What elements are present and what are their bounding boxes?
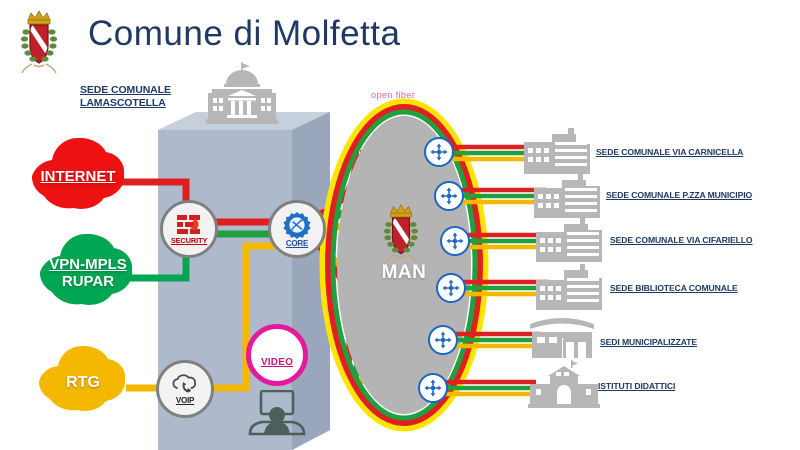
security-node[interactable]: SECURITY — [160, 200, 218, 258]
router-icon-site-3[interactable] — [440, 226, 470, 256]
voip-node-label: VOIP — [176, 397, 194, 405]
cloud-label-internet: INTERNET — [18, 168, 138, 185]
videoconference-icon — [248, 390, 306, 436]
man-coat-of-arms-icon — [370, 200, 432, 266]
site-label-4: SEDE BIBLIOTECA COMUNALE — [610, 283, 738, 293]
page-title: Comune di Molfetta — [88, 14, 400, 54]
site-label-2: SEDE COMUNALE P.ZZA MUNICIPIO — [606, 190, 752, 200]
router-icon-site-4[interactable] — [436, 273, 466, 303]
network-diagram: Comune di Molfetta SEDE COMUNALE LAMASCO… — [0, 0, 800, 450]
cloud-internet-label: INTERNET — [41, 168, 116, 185]
video-node-label: VIDEO — [261, 357, 293, 368]
voip-node[interactable]: VOIP — [156, 360, 214, 418]
office-building-icon-site-3 — [536, 216, 602, 262]
site-label-5: SEDI MUNICIPALIZZATE — [600, 337, 697, 347]
site-label-3: SEDE COMUNALE VIA CIFARIELLO — [610, 235, 753, 245]
open-fiber-logo: open fiber — [358, 90, 428, 101]
site-label-6: ISTITUTI DIDATTICI — [598, 381, 675, 391]
warehouse-icon-site-5 — [526, 312, 598, 358]
router-icon-site-1[interactable] — [424, 137, 454, 167]
onprem-site-label-line2: LAMASCOTELLA — [80, 97, 202, 110]
router-icon-site-2[interactable] — [434, 181, 464, 211]
router-arrows-icon — [430, 143, 448, 161]
school-building-icon-site-6 — [528, 360, 600, 408]
router-arrows-icon — [446, 232, 464, 250]
cloud-label-rtg: RTG — [28, 374, 138, 392]
router-icon-site-5[interactable] — [428, 325, 458, 355]
molfetta-coat-of-arms-icon — [8, 6, 70, 76]
site-label-1: SEDE COMUNALE VIA CARNICELLA — [596, 147, 743, 157]
cloud-rtg-label: RTG — [66, 374, 100, 391]
town-hall-icon — [202, 62, 282, 124]
router-arrows-icon — [424, 379, 442, 397]
router-arrows-icon — [442, 279, 460, 297]
core-node[interactable]: CORE — [268, 200, 326, 258]
office-building-icon-site-1 — [524, 128, 590, 174]
cloud-label-vpn: VPN-MPLS RUPAR — [28, 256, 148, 291]
gear-switch-icon — [282, 211, 312, 239]
office-building-icon-site-4 — [536, 264, 602, 310]
router-arrows-icon — [434, 331, 452, 349]
onprem-site-label-line1: SEDE COMUNALE — [80, 84, 202, 97]
router-arrows-icon — [440, 187, 458, 205]
cloud-vpn-label-line2: RUPAR — [28, 273, 148, 290]
cloud-vpn-label-line1: VPN-MPLS — [28, 256, 148, 273]
router-icon-site-6[interactable] — [418, 373, 448, 403]
firewall-icon — [176, 214, 202, 236]
core-node-label: CORE — [286, 240, 308, 248]
video-node[interactable]: VIDEO — [246, 324, 308, 386]
onprem-site-label: SEDE COMUNALE LAMASCOTELLA — [80, 84, 202, 110]
office-building-icon-site-2 — [534, 172, 600, 218]
cloud-phone-icon — [170, 374, 200, 396]
security-node-label: SECURITY — [171, 237, 207, 245]
